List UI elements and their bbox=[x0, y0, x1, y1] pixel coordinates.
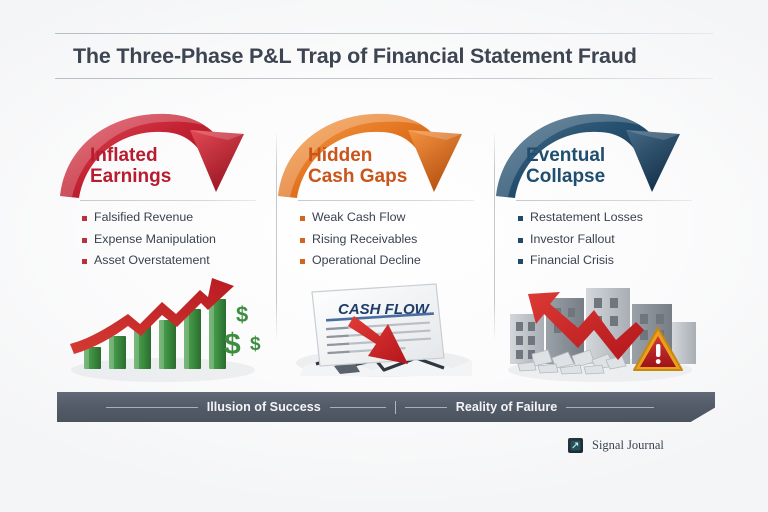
panel-1-heading-line1: Inflated bbox=[90, 145, 158, 166]
bullet-label: Asset Overstatement bbox=[94, 253, 210, 267]
cash-flow-document-icon: CASH FLOW bbox=[276, 270, 494, 388]
panel-3-heading-line2: Collapse bbox=[526, 167, 605, 188]
svg-text:$: $ bbox=[250, 334, 261, 355]
bar-divider-line bbox=[566, 407, 654, 408]
bar-center-separator bbox=[395, 401, 396, 414]
bullet-label: Restatement Losses bbox=[530, 210, 643, 224]
panel-2-heading-rule bbox=[298, 200, 474, 201]
footer-brand-label: Signal Journal bbox=[592, 438, 664, 453]
bullet-square-icon bbox=[82, 238, 87, 243]
panel-3-bullet-list: Restatement Losses Investor Fallout Fina… bbox=[518, 210, 718, 275]
list-item: Expense Manipulation bbox=[82, 232, 282, 246]
bullet-label: Falsified Revenue bbox=[94, 210, 193, 224]
rising-bar-chart-icon: $ $ $ bbox=[58, 270, 276, 388]
list-item: Investor Fallout bbox=[518, 232, 718, 246]
panel-1-bullet-list: Falsified Revenue Expense Manipulation A… bbox=[82, 210, 282, 275]
bullet-label: Weak Cash Flow bbox=[312, 210, 405, 224]
bar-divider-line bbox=[330, 407, 386, 408]
bullet-label: Investor Fallout bbox=[530, 232, 615, 246]
panel-1-heading-rule bbox=[80, 200, 256, 201]
bullet-square-icon bbox=[518, 259, 523, 264]
bullet-label: Operational Decline bbox=[312, 253, 421, 267]
bullet-label: Rising Receivables bbox=[312, 232, 417, 246]
bullet-square-icon bbox=[518, 238, 523, 243]
page-title: The Three-Phase P&L Trap of Financial St… bbox=[55, 34, 713, 78]
signal-journal-logo-icon bbox=[568, 438, 583, 453]
bullet-square-icon bbox=[82, 216, 87, 221]
panel-2-heading-line1: Hidden bbox=[308, 145, 372, 166]
bullet-label: Expense Manipulation bbox=[94, 232, 216, 246]
bullet-square-icon bbox=[300, 238, 305, 243]
collapsing-buildings-icon bbox=[494, 270, 712, 388]
bullet-square-icon bbox=[300, 259, 305, 264]
list-item: Rising Receivables bbox=[300, 232, 500, 246]
list-item: Operational Decline bbox=[300, 253, 500, 267]
svg-text:$: $ bbox=[236, 302, 248, 327]
bullet-square-icon bbox=[518, 216, 523, 221]
panel-phase-1[interactable]: Inflated Earnings Falsified Revenue Expe… bbox=[58, 108, 276, 380]
svg-text:$: $ bbox=[224, 328, 241, 361]
bullet-label: Financial Crisis bbox=[530, 253, 614, 267]
panel-3-heading: Eventual Collapse bbox=[526, 146, 605, 187]
bar-divider-line bbox=[106, 407, 198, 408]
panel-1-heading-line2: Earnings bbox=[90, 167, 171, 188]
panel-3-heading-line1: Eventual bbox=[526, 145, 605, 166]
title-block: The Three-Phase P&L Trap of Financial St… bbox=[55, 33, 713, 79]
bar-label-left: Illusion of Success bbox=[207, 400, 321, 414]
bar-label-right: Reality of Failure bbox=[456, 400, 557, 414]
panel-phase-2[interactable]: Hidden Cash Gaps Weak Cash Flow Rising R… bbox=[276, 108, 494, 380]
panel-2-heading-line2: Cash Gaps bbox=[308, 167, 407, 188]
list-item: Asset Overstatement bbox=[82, 253, 282, 267]
panel-3-heading-rule bbox=[516, 200, 692, 201]
list-item: Falsified Revenue bbox=[82, 210, 282, 224]
phase-panels: Inflated Earnings Falsified Revenue Expe… bbox=[58, 108, 712, 380]
bullet-square-icon bbox=[82, 259, 87, 264]
panel-phase-3[interactable]: Eventual Collapse Restatement Losses Inv… bbox=[494, 108, 712, 380]
list-item: Weak Cash Flow bbox=[300, 210, 500, 224]
bullet-square-icon bbox=[300, 216, 305, 221]
summary-bar: Illusion of Success Reality of Failure bbox=[57, 392, 715, 422]
bar-divider-line bbox=[405, 407, 447, 408]
panel-1-heading: Inflated Earnings bbox=[90, 146, 171, 187]
footer-brand: Signal Journal bbox=[568, 438, 664, 453]
list-item: Restatement Losses bbox=[518, 210, 718, 224]
title-rule-bottom bbox=[55, 78, 713, 79]
panel-2-bullet-list: Weak Cash Flow Rising Receivables Operat… bbox=[300, 210, 500, 275]
list-item: Financial Crisis bbox=[518, 253, 718, 267]
panel-2-heading: Hidden Cash Gaps bbox=[308, 146, 407, 187]
infographic-canvas: The Three-Phase P&L Trap of Financial St… bbox=[0, 0, 768, 512]
